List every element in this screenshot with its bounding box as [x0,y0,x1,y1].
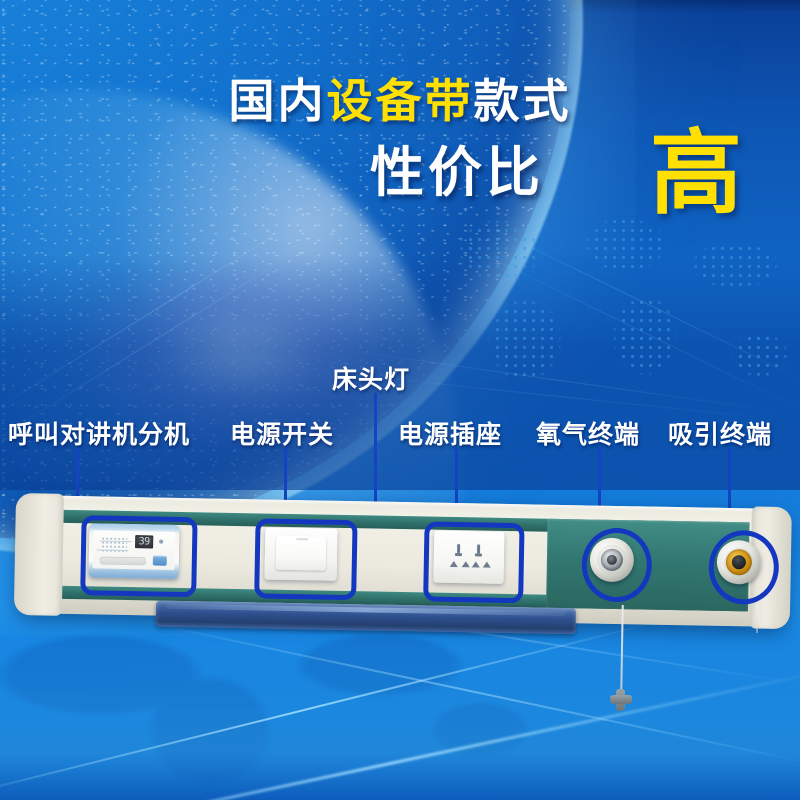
callout-label-power-switch: 电源开关 [230,415,334,451]
highlight-box-power-socket [423,521,524,603]
callout-label-oxygen-terminal: 氧气终端 [536,415,640,451]
callout-labels: 呼叫对讲机分机 电源开关 床头灯 电源插座 氧气终端 吸引终端 [0,0,800,800]
pull-cord-handle-icon[interactable] [610,689,632,711]
highlight-box-intercom [80,515,197,597]
callout-label-intercom-extension: 呼叫对讲机分机 [8,415,190,451]
promo-image-canvas: 国内设备带款式 性价比 高 呼叫对讲机分机 电源开关 床头灯 电源插座 氧气终端… [0,0,800,800]
callout-label-bedside-lamp: 床头灯 [332,360,410,396]
medical-bed-head-unit: 39 [18,495,790,640]
panel-assembly: 39 [16,495,790,645]
panel-left-end-cap [14,493,64,616]
highlight-box-power-switch [254,518,357,600]
callout-label-power-socket: 电源插座 [398,415,502,451]
suction-drain-tube [756,605,758,633]
callout-label-suction-terminal: 吸引终端 [668,415,772,451]
